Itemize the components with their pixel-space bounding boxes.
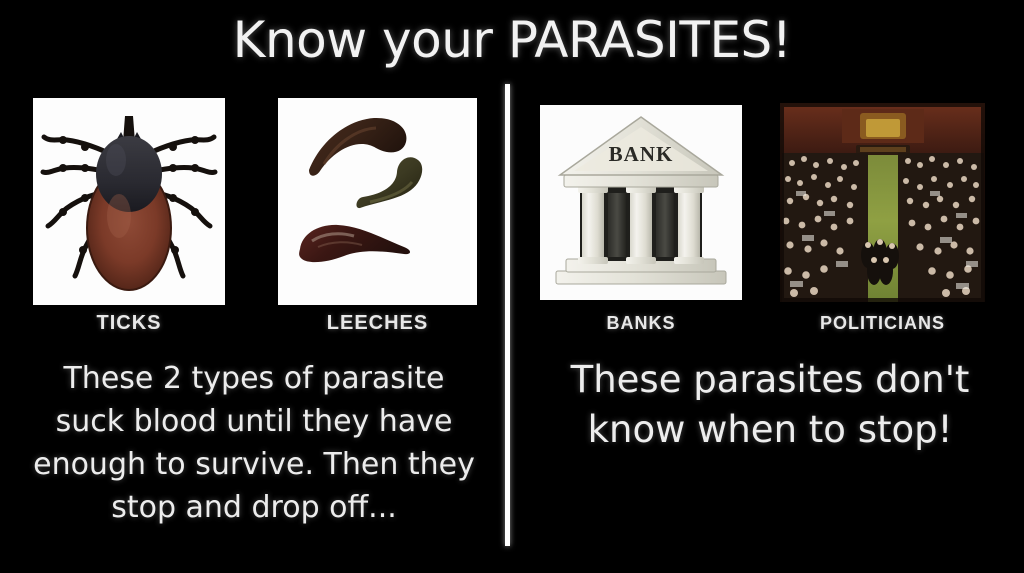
banks-image-frame: BANK bbox=[540, 105, 742, 300]
ticks-image-frame bbox=[33, 98, 225, 305]
leeches-illustration-icon bbox=[278, 98, 477, 305]
panel-ticks-label: TICKS bbox=[33, 312, 225, 335]
caption-left: These 2 types of parasite suck blood unt… bbox=[28, 357, 480, 529]
parliament-chamber-icon bbox=[780, 103, 985, 302]
vertical-divider bbox=[505, 84, 510, 546]
bank-pediment-text: BANK bbox=[609, 142, 674, 166]
panel-politicians-label: POLITICIANS bbox=[780, 313, 985, 334]
bank-building-icon: BANK bbox=[540, 105, 742, 300]
leeches-image-frame bbox=[278, 98, 477, 305]
politicians-image-frame bbox=[780, 103, 985, 302]
caption-right: These parasites don't know when to stop! bbox=[540, 355, 1000, 455]
panel-banks-label: BANKS bbox=[540, 313, 742, 334]
panel-leeches-label: LEECHES bbox=[278, 312, 477, 335]
tick-illustration-icon bbox=[33, 98, 225, 305]
meme-image: Know your PARASITES! bbox=[0, 0, 1024, 573]
page-title: Know your PARASITES! bbox=[0, 13, 1024, 67]
